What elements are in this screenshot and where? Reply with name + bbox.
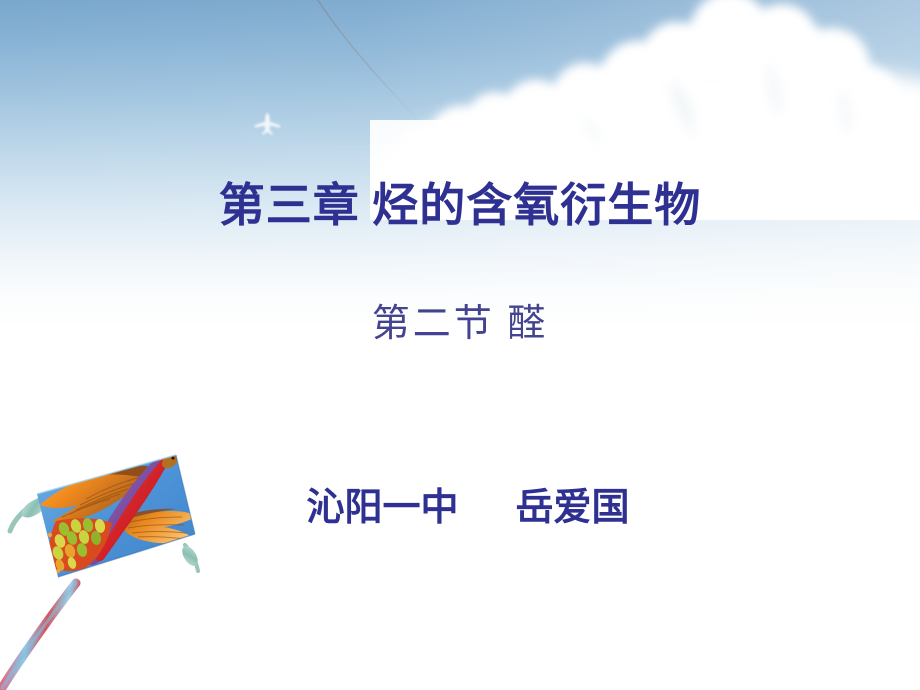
- sky-right-wash: [0, 0, 920, 330]
- page-title: 第三章 烃的含氧衍生物: [0, 180, 920, 233]
- bird-kite-icon: [0, 425, 240, 690]
- author-byline: 沁阳一中 岳爱国: [0, 487, 920, 531]
- airplane-icon: [252, 110, 284, 140]
- slide-canvas: 第三章 烃的含氧衍生物 第二节 醛 沁阳一中 岳爱国: [0, 0, 920, 690]
- kite-streamer-right: [179, 543, 201, 571]
- section-subtitle: 第二节 醛: [0, 303, 920, 347]
- kite-tail: [2, 583, 76, 688]
